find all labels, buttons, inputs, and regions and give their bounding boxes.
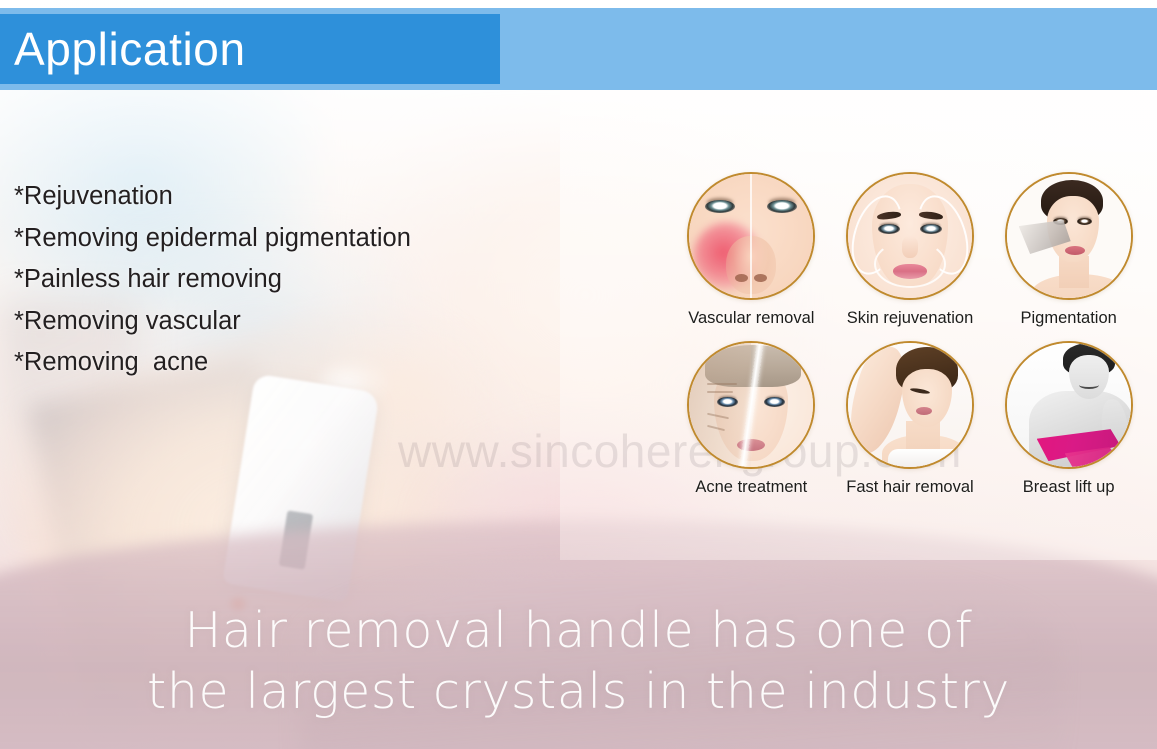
application-item-acne-treatment: Acne treatment xyxy=(672,341,831,496)
application-item-pigmentation: Pigmentation xyxy=(989,172,1148,327)
page-title: Application xyxy=(14,14,494,84)
headline-line-2: the largest crystals in the industry xyxy=(0,661,1157,722)
application-slide: www.sincoherengroup.com Application *Rej… xyxy=(0,0,1157,749)
application-item-skin-rejuvenation: Skin rejuvenation xyxy=(831,172,990,327)
bottom-headline: Hair removal handle has one of the large… xyxy=(0,600,1157,722)
application-item-fast-hair-removal: Fast hair removal xyxy=(831,341,990,496)
skin-rejuvenation-photo xyxy=(846,172,974,300)
headline-line-1: Hair removal handle has one of xyxy=(0,600,1157,661)
fast-hair-removal-photo xyxy=(846,341,974,469)
feature-item: *Painless hair removing xyxy=(14,259,534,301)
application-caption: Skin rejuvenation xyxy=(847,309,974,327)
application-item-breast-lift-up: Breast lift up xyxy=(989,341,1148,496)
application-caption: Vascular removal xyxy=(688,309,814,327)
feature-item: *Removing epidermal pigmentation xyxy=(14,218,534,260)
feature-list: *Rejuvenation *Removing epidermal pigmen… xyxy=(14,176,534,384)
breast-lift-up-photo xyxy=(1005,341,1133,469)
application-caption: Pigmentation xyxy=(1021,309,1117,327)
pigmentation-photo xyxy=(1005,172,1133,300)
application-circle-grid: Vascular removal Skin rej xyxy=(672,172,1148,496)
vascular-removal-photo xyxy=(687,172,815,300)
application-caption: Acne treatment xyxy=(695,478,807,496)
feature-item: *Rejuvenation xyxy=(14,176,534,218)
application-caption: Breast lift up xyxy=(1023,478,1115,496)
application-item-vascular-removal: Vascular removal xyxy=(672,172,831,327)
acne-treatment-photo xyxy=(687,341,815,469)
feature-item: *Removing acne xyxy=(14,342,534,384)
application-caption: Fast hair removal xyxy=(846,478,973,496)
feature-item: *Removing vascular xyxy=(14,301,534,343)
